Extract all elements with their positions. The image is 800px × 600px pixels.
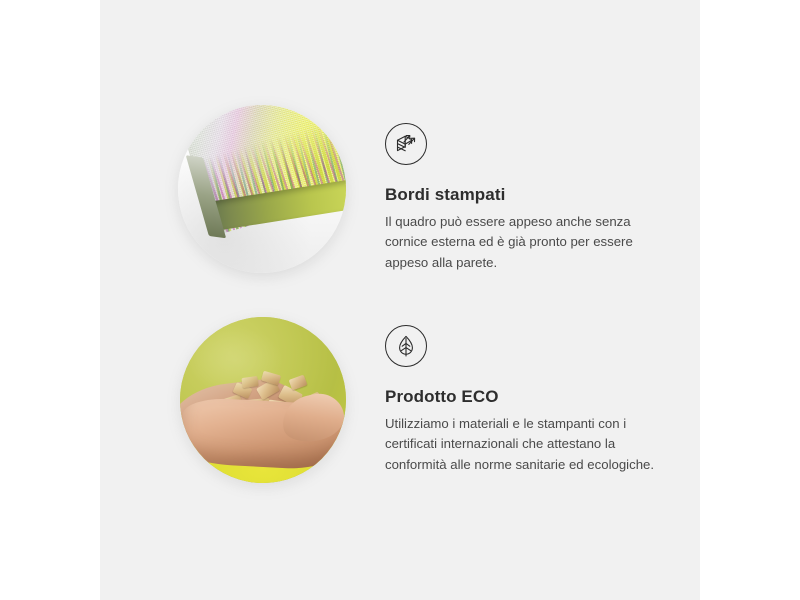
printed-edges-icon	[385, 123, 427, 165]
content-panel: Bordi stampati Il quadro può essere appe…	[100, 0, 700, 600]
feature-text-eco-product: Prodotto ECO Utilizziamo i materiali e l…	[385, 325, 670, 475]
canvas-corner-photo	[178, 105, 346, 273]
feature-text-printed-edges: Bordi stampati Il quadro può essere appe…	[385, 123, 670, 273]
feature-row-eco-product: Prodotto ECO Utilizziamo i materiali e l…	[100, 295, 700, 495]
feature-title: Prodotto ECO	[385, 387, 670, 407]
canvas-photo-backdrop	[178, 105, 346, 273]
wood-chips-hands-photo	[180, 317, 346, 483]
feature-title: Bordi stampati	[385, 185, 670, 205]
feature-row-printed-edges: Bordi stampati Il quadro può essere appe…	[100, 95, 700, 290]
feature-description: Il quadro può essere appeso anche senza …	[385, 212, 657, 272]
eco-photo-backdrop	[180, 317, 346, 483]
eco-leaf-icon	[385, 325, 427, 367]
product-features-page: Bordi stampati Il quadro può essere appe…	[0, 0, 800, 600]
feature-description: Utilizziamo i materiali e le stampanti c…	[385, 414, 657, 474]
canvas-corner-shape	[180, 105, 346, 263]
